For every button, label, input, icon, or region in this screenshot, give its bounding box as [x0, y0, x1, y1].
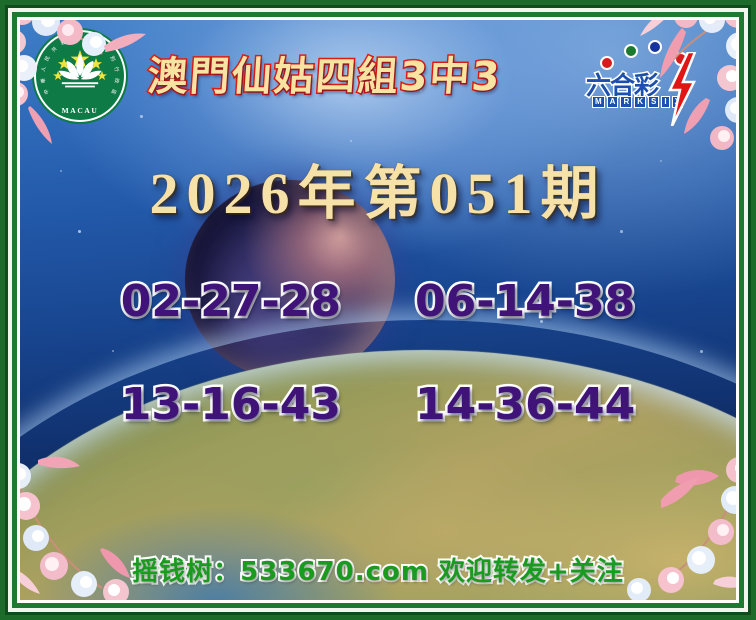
emblem-latin-text: MACAU [34, 106, 126, 115]
macau-sar-emblem: 中華人民共和國澳門特別行政區 [34, 30, 126, 122]
mark-six-letter: S [648, 96, 659, 108]
mark-six-letter: K [634, 96, 646, 108]
issue-title: 2026年第051期 [0, 146, 756, 230]
number-group: 14-36-44 [415, 379, 635, 430]
poster-footer: 摇钱树：533670.com 欢迎转发+关注 [0, 551, 756, 588]
star [78, 230, 81, 233]
mark-six-logo: 六合彩 MARKSIX [592, 26, 712, 126]
number-grid: 02-27-2806-14-3813-16-4314-36-44 [0, 276, 756, 482]
lottery-ball-icon [624, 44, 638, 58]
mark-six-letter: M [592, 96, 605, 108]
footer-text: 摇钱树：533670.com 欢迎转发+关注 [132, 551, 624, 588]
star [350, 140, 352, 142]
star [620, 230, 623, 233]
lightning-bolt-icon [664, 52, 698, 126]
number-group: 02-27-28 [121, 276, 341, 327]
number-row: 02-27-2806-14-38 [0, 276, 756, 327]
mark-six-letter: A [607, 96, 619, 108]
poster-header: 中華人民共和國澳門特別行政區 [20, 14, 736, 134]
lottery-poster: 中華人民共和國澳門特別行政區 [0, 0, 756, 620]
poster-headline: 澳門仙姑四組3中3 [146, 44, 504, 102]
lotus-flower-icon [54, 51, 106, 89]
mark-six-letter: R [620, 96, 632, 108]
lottery-ball-icon [648, 40, 662, 54]
number-group: 06-14-38 [415, 276, 635, 327]
number-group: 13-16-43 [121, 379, 341, 430]
number-row: 13-16-4314-36-44 [0, 379, 756, 430]
